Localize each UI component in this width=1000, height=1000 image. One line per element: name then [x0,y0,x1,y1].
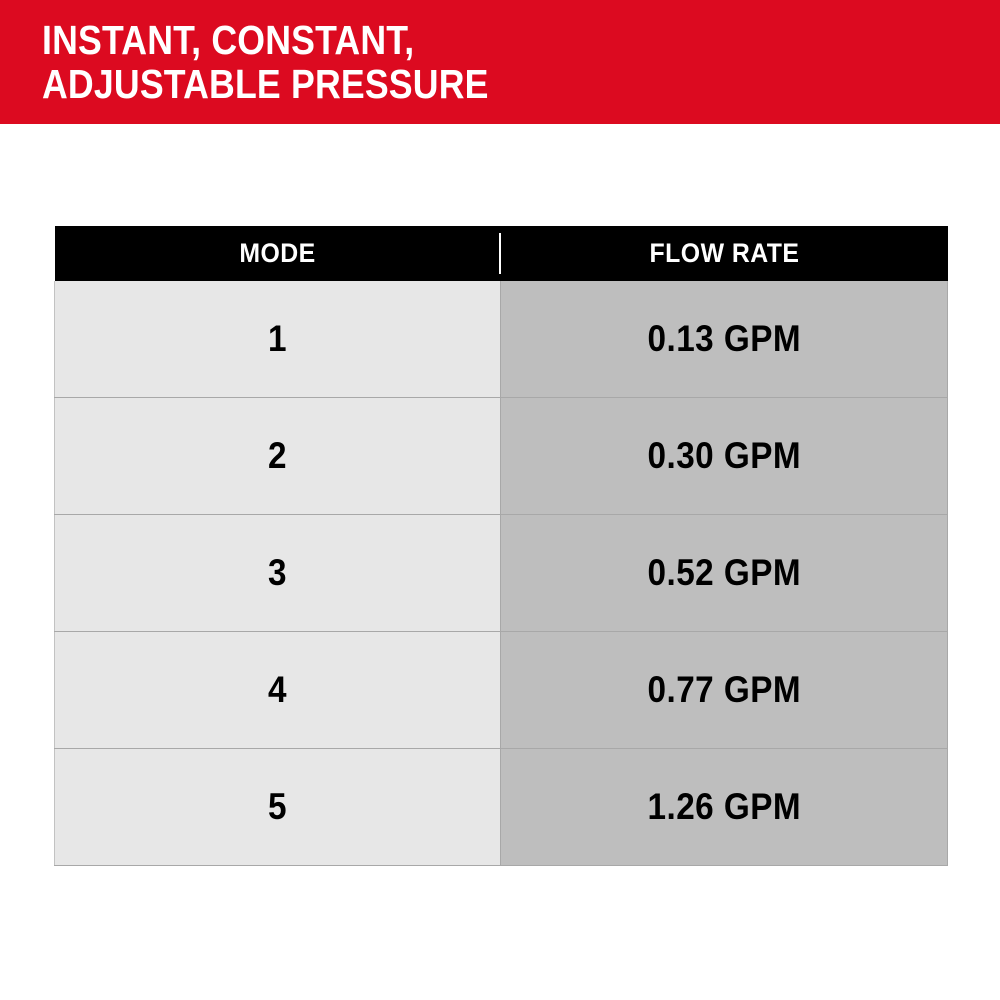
cell-flow-rate-value: 0.30 GPM [647,435,801,477]
column-header-flow-rate: FLOW RATE [501,226,948,281]
table-header-row: MODE FLOW RATE [55,226,948,281]
cell-flow-rate: 0.77 GPM [501,632,948,749]
cell-flow-rate: 1.26 GPM [501,749,948,866]
cell-mode-value: 3 [268,552,287,594]
cell-mode: 5 [55,749,501,866]
cell-flow-rate-value: 0.13 GPM [647,318,801,360]
column-header-flow-rate-label: FLOW RATE [649,238,799,269]
table-header: MODE FLOW RATE [55,226,948,281]
column-header-mode-label: MODE [239,238,315,269]
headline-banner: INSTANT, CONSTANT, ADJUSTABLE PRESSURE [0,0,1000,124]
spec-sheet-page: INSTANT, CONSTANT, ADJUSTABLE PRESSURE M… [0,0,1000,1000]
cell-mode: 2 [55,398,501,515]
cell-mode-value: 1 [268,318,287,360]
table-row: 2 0.30 GPM [55,398,948,515]
headline-line-1: INSTANT, CONSTANT, [42,18,875,62]
cell-mode-value: 4 [268,669,287,711]
cell-flow-rate-value: 0.77 GPM [647,669,801,711]
flow-rate-table: MODE FLOW RATE 1 0.13 GPM [54,226,948,866]
table-row: 5 1.26 GPM [55,749,948,866]
flow-rate-table-container: MODE FLOW RATE 1 0.13 GPM [54,226,947,866]
table-row: 3 0.52 GPM [55,515,948,632]
cell-flow-rate: 0.52 GPM [501,515,948,632]
cell-flow-rate-value: 1.26 GPM [647,786,801,828]
cell-mode: 3 [55,515,501,632]
cell-flow-rate: 0.13 GPM [501,281,948,398]
table-row: 1 0.13 GPM [55,281,948,398]
cell-flow-rate-value: 0.52 GPM [647,552,801,594]
table-row: 4 0.77 GPM [55,632,948,749]
cell-mode-value: 2 [268,435,287,477]
column-header-mode: MODE [55,226,501,281]
table-body: 1 0.13 GPM 2 0.30 GPM 3 [55,281,948,866]
cell-mode: 1 [55,281,501,398]
headline-line-2: ADJUSTABLE PRESSURE [42,62,875,106]
cell-mode-value: 5 [268,786,287,828]
cell-mode: 4 [55,632,501,749]
cell-flow-rate: 0.30 GPM [501,398,948,515]
